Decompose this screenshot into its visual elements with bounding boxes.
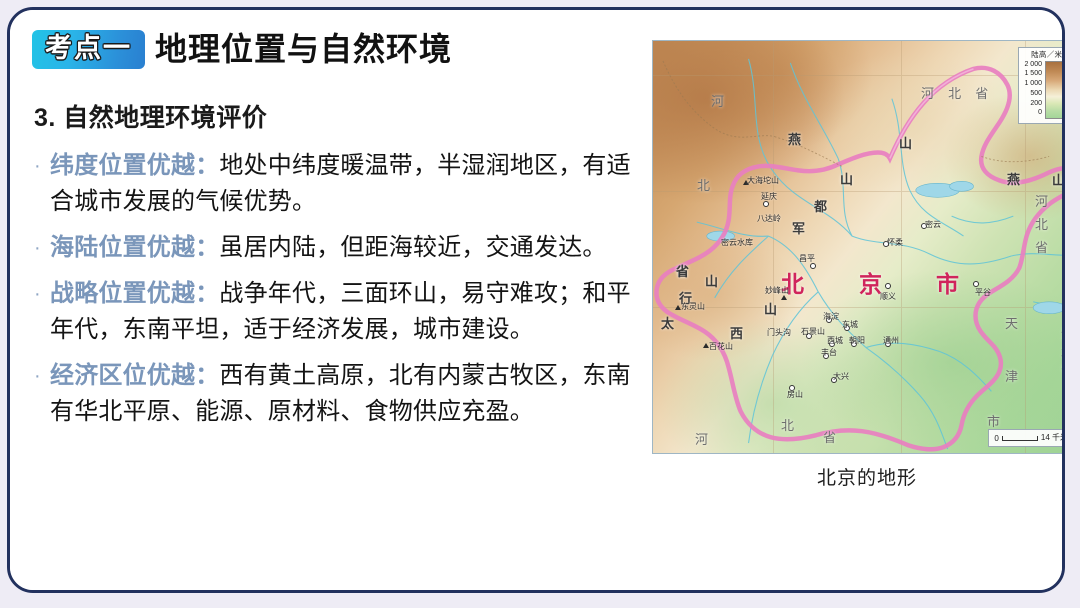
- province-boundary: [663, 61, 1049, 167]
- town-marker: [844, 325, 850, 331]
- slide-inner: 考点一 地理位置与自然环境 3. 自然地理环境评价 · 纬度位置优越：地处中纬度…: [10, 10, 1062, 590]
- map-legend: 陆高／米 2 000 1 500 1 000 500 200 0: [1018, 47, 1062, 124]
- list-item: · 纬度位置优越：地处中纬度暖温带，半湿润地区，有适合城市发展的气候优势。: [32, 148, 642, 220]
- slide-header: 考点一 地理位置与自然环境: [32, 30, 452, 69]
- legend-color-ramp: [1045, 61, 1062, 119]
- legend-tick: 2 000: [1024, 61, 1042, 68]
- river-network: [697, 59, 1062, 449]
- water-bodies: [707, 181, 1062, 313]
- slide-root: 考点一 地理位置与自然环境 3. 自然地理环境评价 · 纬度位置优越：地处中纬度…: [0, 0, 1080, 608]
- bullet-marker-icon: ·: [32, 230, 50, 266]
- beijing-terrain-map: 北 京 市 河 北 省 河 北 省 河 北 省 天 津 市 河 北 省: [652, 40, 1062, 454]
- town-marker: [763, 201, 769, 207]
- town-marker: [806, 333, 812, 339]
- legend-tick: 0: [1024, 109, 1042, 116]
- map-vector-overlay: [653, 41, 1062, 453]
- bullet-text: 虽居内陆，但距海较近，交通发达。: [219, 234, 606, 261]
- town-marker: [826, 317, 832, 323]
- legend-title: 陆高／米: [1024, 51, 1062, 59]
- legend-tick: 1 500: [1024, 70, 1042, 77]
- section-subheading: 3. 自然地理环境评价: [34, 98, 642, 134]
- town-marker: [883, 241, 889, 247]
- peak-marker: [781, 295, 787, 300]
- legend-tick: 1 000: [1024, 80, 1042, 87]
- list-item: · 战略位置优越：战争年代，三面环山，易守难攻；和平年代，东南平坦，适于经济发展…: [32, 276, 642, 348]
- bullet-label: 海陆位置优越：: [50, 234, 219, 261]
- bullet-label: 战略位置优越：: [50, 280, 219, 307]
- content-column: 3. 自然地理环境评价 · 纬度位置优越：地处中纬度暖温带，半湿润地区，有适合城…: [32, 98, 642, 440]
- list-item: · 经济区位优越：西有黄土高原，北有内蒙古牧区，东南有华北平原、能源、原材料、食…: [32, 358, 642, 430]
- town-marker: [885, 341, 891, 347]
- town-marker: [823, 353, 829, 359]
- peak-marker: [743, 180, 749, 185]
- list-item: · 海陆位置优越：虽居内陆，但距海较近，交通发达。: [32, 230, 642, 266]
- town-marker: [921, 223, 927, 229]
- figure-caption: 北京的地形: [652, 463, 1062, 490]
- map-scale-bar: 0 14 千米: [988, 429, 1062, 447]
- legend-tick: 500: [1024, 90, 1042, 97]
- bullet-marker-icon: ·: [32, 276, 50, 312]
- town-marker: [789, 385, 795, 391]
- town-marker: [885, 283, 891, 289]
- scale-value: 14 千米: [1041, 432, 1062, 443]
- exam-point-badge: 考点一: [32, 30, 145, 69]
- bullet-body: 经济区位优越：西有黄土高原，北有内蒙古牧区，东南有华北平原、能源、原材料、食物供…: [50, 358, 642, 430]
- peak-marker: [675, 305, 681, 310]
- legend-ticks: 2 000 1 500 1 000 500 200 0: [1024, 61, 1042, 117]
- town-marker: [810, 263, 816, 269]
- scale-zero: 0: [994, 434, 998, 443]
- town-marker: [829, 341, 835, 347]
- slide-frame: 考点一 地理位置与自然环境 3. 自然地理环境评价 · 纬度位置优越：地处中纬度…: [7, 7, 1065, 593]
- town-marker: [973, 281, 979, 287]
- map-figure: 北 京 市 河 北 省 河 北 省 河 北 省 天 津 市 河 北 省: [652, 40, 1062, 490]
- scale-line: [1002, 436, 1038, 441]
- town-marker: [851, 341, 857, 347]
- bullet-body: 战略位置优越：战争年代，三面环山，易守难攻；和平年代，东南平坦，适于经济发展，城…: [50, 276, 642, 348]
- bullet-label: 纬度位置优越：: [50, 152, 219, 179]
- legend-body: 2 000 1 500 1 000 500 200 0: [1024, 61, 1062, 119]
- peak-marker: [703, 343, 709, 348]
- bullet-marker-icon: ·: [32, 358, 50, 394]
- bullet-marker-icon: ·: [32, 148, 50, 184]
- legend-tick: 200: [1024, 100, 1042, 107]
- bullet-label: 经济区位优越：: [50, 362, 219, 389]
- town-marker: [831, 377, 837, 383]
- page-title: 地理位置与自然环境: [155, 33, 452, 67]
- bullet-body: 海陆位置优越：虽居内陆，但距海较近，交通发达。: [50, 230, 642, 266]
- bullet-body: 纬度位置优越：地处中纬度暖温带，半湿润地区，有适合城市发展的气候优势。: [50, 148, 642, 220]
